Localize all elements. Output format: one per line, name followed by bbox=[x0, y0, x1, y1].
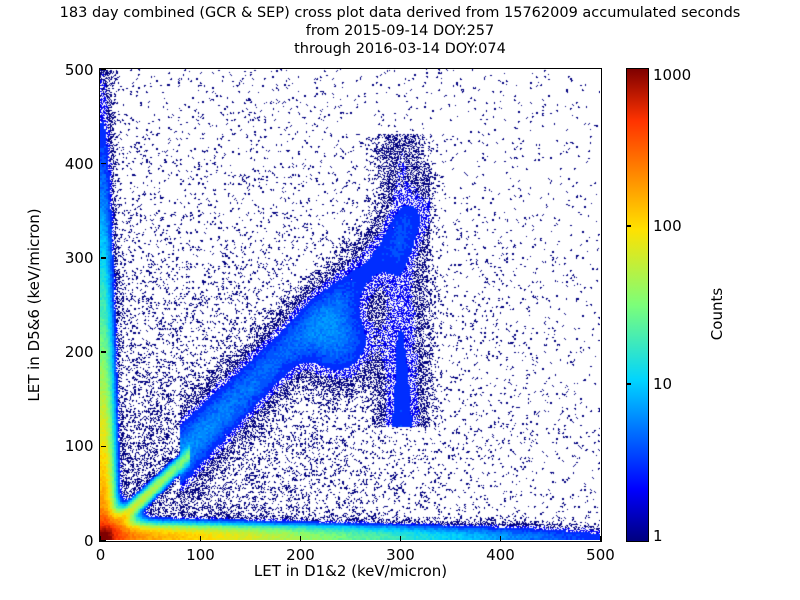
y-tick-0 bbox=[101, 540, 106, 541]
figure-canvas: 183 day combined (GCR & SEP) cross plot … bbox=[0, 0, 800, 600]
x-tick-400 bbox=[500, 536, 501, 541]
x-tick-200 bbox=[300, 536, 301, 541]
x-tick-300 bbox=[400, 536, 401, 541]
colorbar bbox=[626, 68, 649, 542]
y-tick-300 bbox=[101, 257, 106, 258]
cross-plot-heatmap bbox=[100, 69, 600, 540]
y-tick-label-300: 300 bbox=[39, 249, 94, 267]
title-line-3: through 2016-03-14 DOY:074 bbox=[0, 40, 800, 58]
title-line-1: 183 day combined (GCR & SEP) cross plot … bbox=[0, 4, 800, 22]
x-tick-100 bbox=[200, 536, 201, 541]
y-tick-label-500: 500 bbox=[39, 61, 94, 79]
x-axis-label: LET in D1&2 (keV/micron) bbox=[99, 562, 602, 580]
x-tick-label-100: 100 bbox=[186, 546, 215, 564]
colorbar-tick-label-1000: 1000 bbox=[653, 66, 691, 84]
x-tick-label-500: 500 bbox=[586, 546, 615, 564]
x-tick-label-0: 0 bbox=[96, 546, 106, 564]
x-tick-label-200: 200 bbox=[286, 546, 315, 564]
colorbar-gradient bbox=[627, 69, 648, 541]
x-tick-500 bbox=[600, 536, 601, 541]
x-tick-label-400: 400 bbox=[486, 546, 515, 564]
colorbar-label: Counts bbox=[708, 224, 726, 404]
y-tick-label-200: 200 bbox=[39, 343, 94, 361]
y-tick-label-400: 400 bbox=[39, 155, 94, 173]
y-tick-label-100: 100 bbox=[39, 437, 94, 455]
colorbar-tick-10 bbox=[627, 383, 631, 384]
x-tick-label-300: 300 bbox=[386, 546, 415, 564]
y-tick-400 bbox=[101, 163, 106, 164]
colorbar-tick-label-10: 10 bbox=[653, 375, 672, 393]
y-tick-200 bbox=[101, 351, 106, 352]
plot-area bbox=[99, 68, 602, 542]
title-line-2: from 2015-09-14 DOY:257 bbox=[0, 22, 800, 40]
colorbar-tick-label-100: 100 bbox=[653, 217, 682, 235]
y-axis-label: LET in D5&6 (keV/micron) bbox=[25, 185, 43, 425]
y-tick-label-0: 0 bbox=[39, 532, 94, 550]
y-tick-100 bbox=[101, 446, 106, 447]
colorbar-tick-label-1: 1 bbox=[653, 527, 663, 545]
figure-title: 183 day combined (GCR & SEP) cross plot … bbox=[0, 4, 800, 58]
colorbar-tick-100 bbox=[627, 225, 631, 226]
y-tick-500 bbox=[101, 69, 106, 70]
